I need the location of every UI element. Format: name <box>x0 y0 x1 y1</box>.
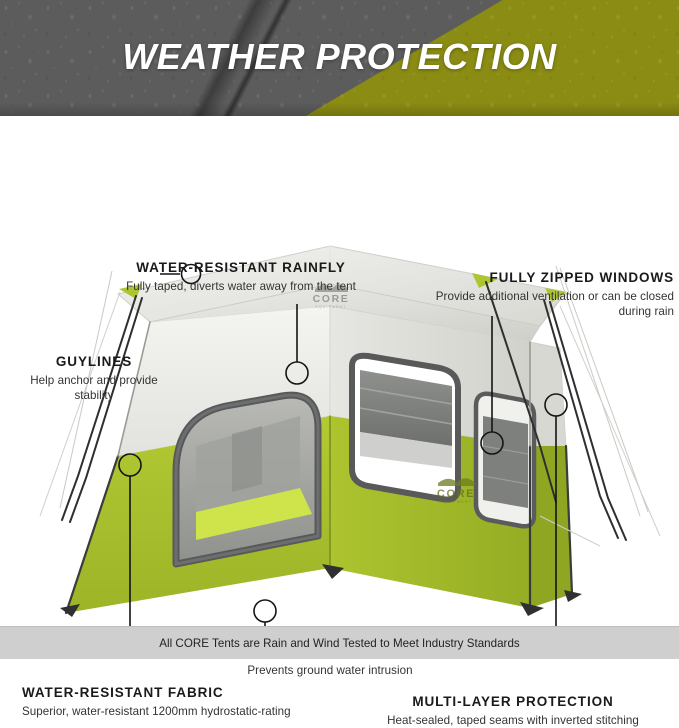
window-right-mesh <box>483 416 528 508</box>
window-right-side <box>476 394 534 527</box>
door-interior-shadow <box>232 426 262 492</box>
callout-windows-sub: Provide additional ventilation or can be… <box>422 289 674 320</box>
header-banner: WEATHER PROTECTION <box>0 0 679 116</box>
callout-guylines-sub: Help anchor and provide stability <box>14 373 174 404</box>
footer-text: All CORE Tents are Rain and Wind Tested … <box>159 637 519 650</box>
callout-fabric-heading: WATER-RESISTANT FABRIC <box>22 685 302 702</box>
banner-title: WEATHER PROTECTION <box>0 36 679 78</box>
callout-dot-floor <box>254 600 276 622</box>
callout-guylines-heading: GUYLINES <box>14 354 174 371</box>
banner-bottom-shade <box>0 102 679 116</box>
callout-windows: FULLY ZIPPED WINDOWS Provide additional … <box>422 270 674 320</box>
svg-text:CORE: CORE <box>437 488 475 500</box>
callout-multilayer-heading: MULTI-LAYER PROTECTION <box>352 694 674 711</box>
footer-bar: All CORE Tents are Rain and Wind Tested … <box>0 626 679 659</box>
tent-door <box>176 395 318 564</box>
infographic-stage: CORE EQUIPMENT CORE EQUIPMENT WATER-RESI… <box>0 116 679 626</box>
callout-fabric-sub: Superior, water-resistant 1200mm hydrost… <box>22 704 302 720</box>
svg-text:EQUIPMENT: EQUIPMENT <box>440 500 472 504</box>
callout-windows-heading: FULLY ZIPPED WINDOWS <box>422 270 674 287</box>
callout-multilayer: MULTI-LAYER PROTECTION Heat-sealed, tape… <box>352 694 674 728</box>
window-front-right <box>352 356 458 500</box>
callout-guylines: GUYLINES Help anchor and provide stabili… <box>14 354 174 404</box>
callout-rainfly-sub: Fully taped, diverts water away from the… <box>96 279 386 295</box>
svg-text:EQUIPMENT: EQUIPMENT <box>316 305 347 309</box>
callout-multilayer-sub: Heat-sealed, taped seams with inverted s… <box>352 713 674 728</box>
svg-text:CORE: CORE <box>313 293 350 305</box>
callout-rainfly: WATER-RESISTANT RAINFLY Fully taped, div… <box>96 260 386 294</box>
callout-floor-sub: Prevents ground water intrusion <box>195 663 465 679</box>
tent-skirt-far-right <box>530 446 572 608</box>
core-logo-side: CORE EQUIPMENT <box>437 478 475 504</box>
callout-rainfly-heading: WATER-RESISTANT RAINFLY <box>96 260 386 277</box>
callout-fabric: WATER-RESISTANT FABRIC Superior, water-r… <box>22 685 302 719</box>
